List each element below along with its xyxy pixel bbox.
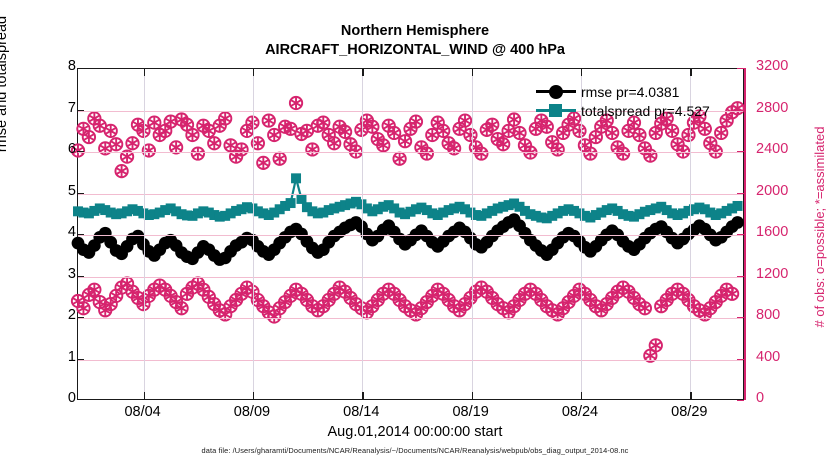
x-axis-tick-label: 08/14 xyxy=(326,404,396,420)
y-axis-right-tick xyxy=(737,234,744,235)
y-axis-right-tick xyxy=(737,359,744,360)
rmse-markers xyxy=(72,213,744,266)
y-axis-left-tick xyxy=(77,234,84,235)
gridline-horizontal xyxy=(78,194,743,195)
gridline-horizontal xyxy=(78,277,743,278)
y-axis-left-tick-label: 5 xyxy=(36,183,76,199)
gridline-vertical xyxy=(253,69,254,399)
y-axis-right-label: # of obs: o=possible; *=assimilated xyxy=(812,62,827,392)
y-axis-left-tick xyxy=(77,317,84,318)
x-axis-tick xyxy=(144,392,145,399)
y-axis-left-tick-label: 4 xyxy=(36,224,76,240)
legend-label-totalspread: totalspread pr=4.527 xyxy=(576,103,710,119)
chart-figure: Northern Hemisphere AIRCRAFT_HORIZONTAL_… xyxy=(0,0,830,470)
y-axis-right-tick-label: 1200 xyxy=(756,266,804,282)
x-axis-tick xyxy=(253,392,254,399)
data-file-footer: data file: /Users/gharamti/Documents/NCA… xyxy=(0,446,830,455)
y-axis-left-tick-label: 6 xyxy=(36,141,76,157)
y-axis-right-tick xyxy=(737,276,744,277)
x-axis-tick-top xyxy=(362,69,363,76)
y-axis-left-tick-label: 2 xyxy=(36,307,76,323)
y-axis-left-tick-label: 3 xyxy=(36,266,76,282)
y-axis-left-tick xyxy=(77,151,84,152)
y-axis-right-tick-label: 400 xyxy=(756,349,804,365)
x-axis-tick-top xyxy=(690,69,691,76)
gridline-horizontal xyxy=(78,360,743,361)
y-axis-right-tick xyxy=(737,68,744,69)
gridline-vertical xyxy=(362,69,363,399)
x-axis-tick-top xyxy=(253,69,254,76)
y-axis-left-tick xyxy=(77,110,84,111)
x-axis-label: Aug.01,2014 00:00:00 start xyxy=(0,424,830,440)
x-axis-tick xyxy=(690,392,691,399)
y-axis-right-tick xyxy=(737,317,744,318)
gridline-horizontal xyxy=(78,318,743,319)
legend-marker-rmse xyxy=(536,90,576,93)
gridline-vertical xyxy=(144,69,145,399)
x-axis-tick-label: 08/19 xyxy=(436,404,506,420)
y-axis-left-tick-label: 0 xyxy=(36,390,76,406)
gridline-horizontal xyxy=(78,235,743,236)
x-axis-tick xyxy=(581,392,582,399)
x-axis-tick-label: 08/29 xyxy=(654,404,724,420)
y-axis-right-tick-label: 800 xyxy=(756,307,804,323)
legend-item-rmse[interactable]: rmse pr=4.0381 xyxy=(536,82,746,101)
gridline-horizontal xyxy=(78,152,743,153)
y-axis-right-tick-label: 2800 xyxy=(756,100,804,116)
y-axis-right-tick-label: 2400 xyxy=(756,141,804,157)
x-axis-tick-top xyxy=(581,69,582,76)
y-axis-left-tick-label: 7 xyxy=(36,100,76,116)
x-axis-tick-top xyxy=(144,69,145,76)
legend-item-totalspread[interactable]: totalspread pr=4.527 xyxy=(536,101,746,120)
y-axis-right-tick xyxy=(737,193,744,194)
x-axis-tick xyxy=(472,392,473,399)
title-line-2: AIRCRAFT_HORIZONTAL_WIND @ 400 hPa xyxy=(0,41,830,60)
chart-title: Northern Hemisphere AIRCRAFT_HORIZONTAL_… xyxy=(0,22,830,60)
x-axis-tick-label: 08/24 xyxy=(545,404,615,420)
title-line-1: Northern Hemisphere xyxy=(0,22,830,41)
y-axis-right-tick-label: 3200 xyxy=(756,58,804,74)
y-axis-left-tick-label: 1 xyxy=(36,349,76,365)
y-axis-left-tick xyxy=(77,276,84,277)
y-axis-right-tick-label: 2000 xyxy=(756,183,804,199)
gridline-vertical xyxy=(472,69,473,399)
x-axis-tick-label: 08/04 xyxy=(108,404,178,420)
y-axis-right-tick xyxy=(737,400,744,401)
chart-legend: rmse pr=4.0381 totalspread pr=4.527 xyxy=(536,82,746,120)
y-axis-left-tick-label: 8 xyxy=(36,58,76,74)
y-axis-right-tick xyxy=(737,151,744,152)
legend-marker-totalspread xyxy=(536,109,576,112)
totalspread-markers xyxy=(73,173,743,223)
legend-label-rmse: rmse pr=4.0381 xyxy=(576,84,679,100)
y-axis-left-tick xyxy=(77,359,84,360)
y-axis-left-tick xyxy=(77,193,84,194)
y-axis-left-label: rmse and totalspread xyxy=(0,0,10,234)
x-axis-tick xyxy=(362,392,363,399)
x-axis-tick-top xyxy=(472,69,473,76)
y-axis-right-tick-label: 0 xyxy=(756,390,804,406)
x-axis-tick-label: 08/09 xyxy=(217,404,287,420)
y-axis-right-tick-label: 1600 xyxy=(756,224,804,240)
